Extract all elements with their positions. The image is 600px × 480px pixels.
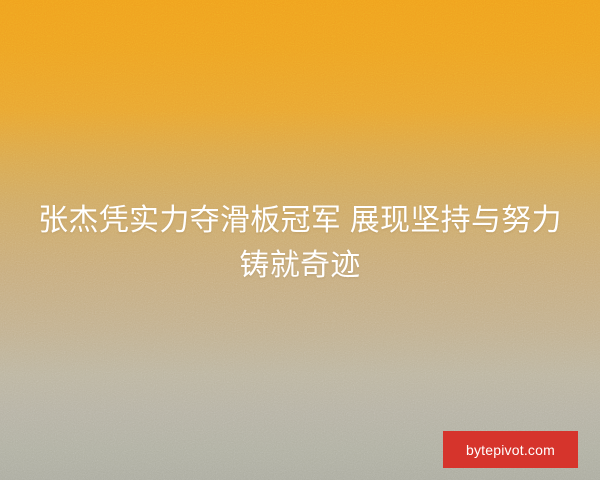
watermark-badge: bytepivot.com <box>443 431 578 468</box>
watermark-label: bytepivot.com <box>466 443 555 457</box>
banner-image: 张杰凭实力夺滑板冠军 展现坚持与努力 铸就奇迹 bytepivot.com <box>0 0 600 480</box>
headline-text: 张杰凭实力夺滑板冠军 展现坚持与努力 铸就奇迹 <box>0 198 600 288</box>
